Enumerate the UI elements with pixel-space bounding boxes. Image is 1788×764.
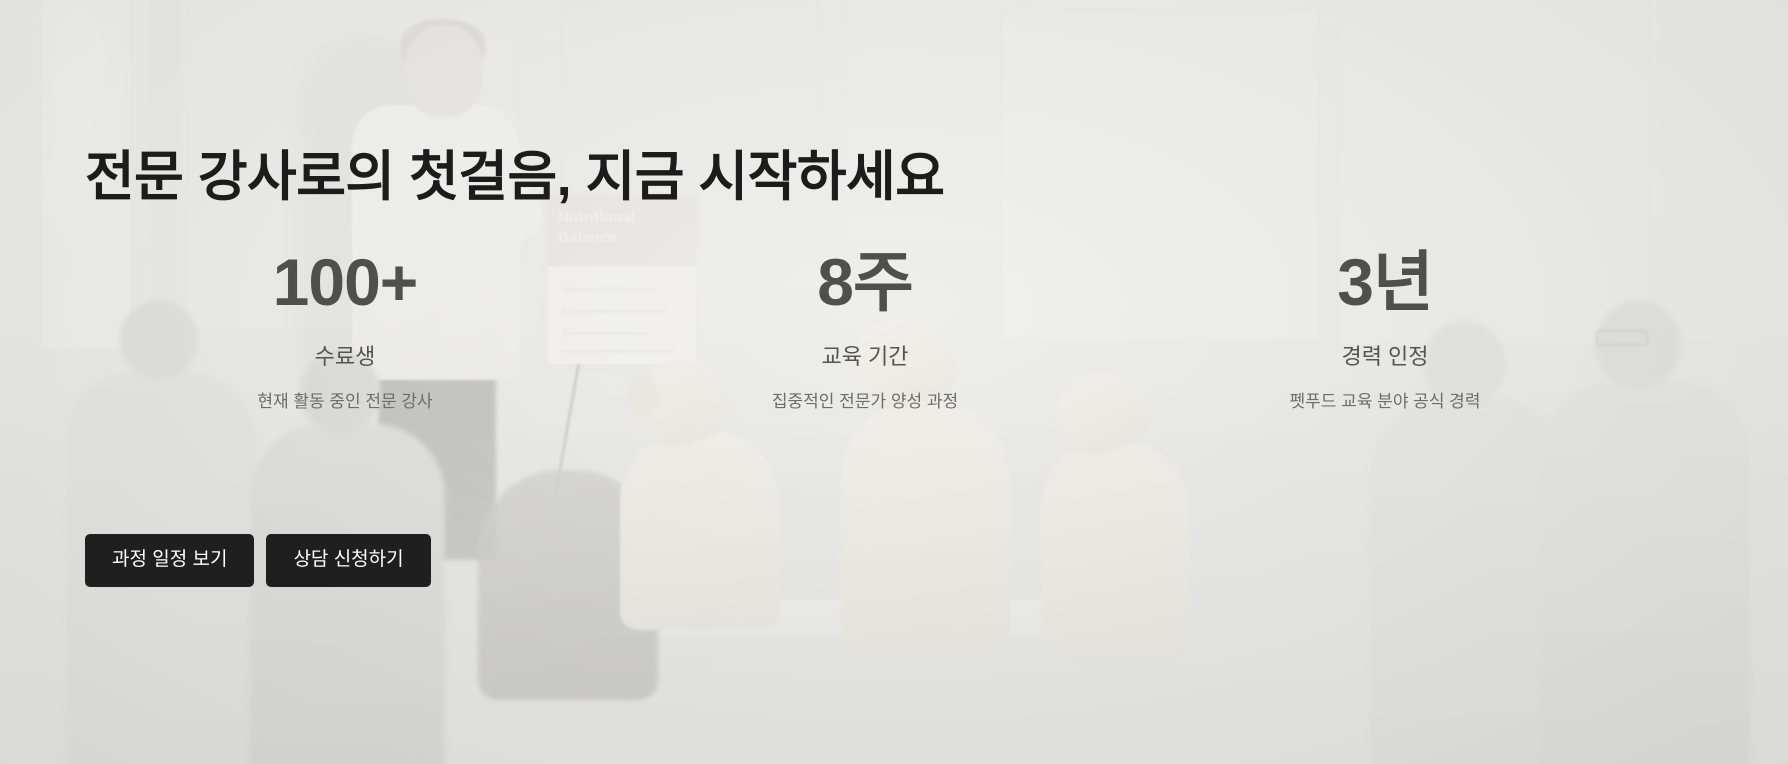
stats-row: 100+ 수료생 현재 활동 중인 전문 강사 8주 교육 기간 집중적인 전문…	[85, 248, 1645, 412]
hero-banner: Nutritional Balance	[0, 0, 1788, 764]
page-title: 전문 강사로의 첫걸음, 지금 시작하세요	[85, 132, 944, 211]
stat-label: 경력 인정	[1125, 339, 1645, 371]
hero-content: 전문 강사로의 첫걸음, 지금 시작하세요 100+ 수료생 현재 활동 중인 …	[0, 0, 1788, 764]
stat-description: 집중적인 전문가 양성 과정	[605, 387, 1125, 412]
stat-item-career: 3년 경력 인정 펫푸드 교육 분야 공식 경력	[1125, 248, 1645, 412]
stat-description: 현재 활동 중인 전문 강사	[85, 387, 605, 412]
stat-number: 100+	[85, 248, 605, 317]
stat-number: 8주	[605, 248, 1125, 317]
stat-item-graduates: 100+ 수료생 현재 활동 중인 전문 강사	[85, 248, 605, 412]
view-schedule-button[interactable]: 과정 일정 보기	[85, 534, 254, 587]
stat-number: 3년	[1125, 248, 1645, 317]
stat-label: 교육 기간	[605, 339, 1125, 371]
stat-label: 수료생	[85, 339, 605, 371]
request-consultation-button[interactable]: 상담 신청하기	[266, 534, 430, 587]
stat-description: 펫푸드 교육 분야 공식 경력	[1125, 387, 1645, 412]
cta-button-row: 과정 일정 보기 상담 신청하기	[85, 534, 431, 587]
stat-item-duration: 8주 교육 기간 집중적인 전문가 양성 과정	[605, 248, 1125, 412]
